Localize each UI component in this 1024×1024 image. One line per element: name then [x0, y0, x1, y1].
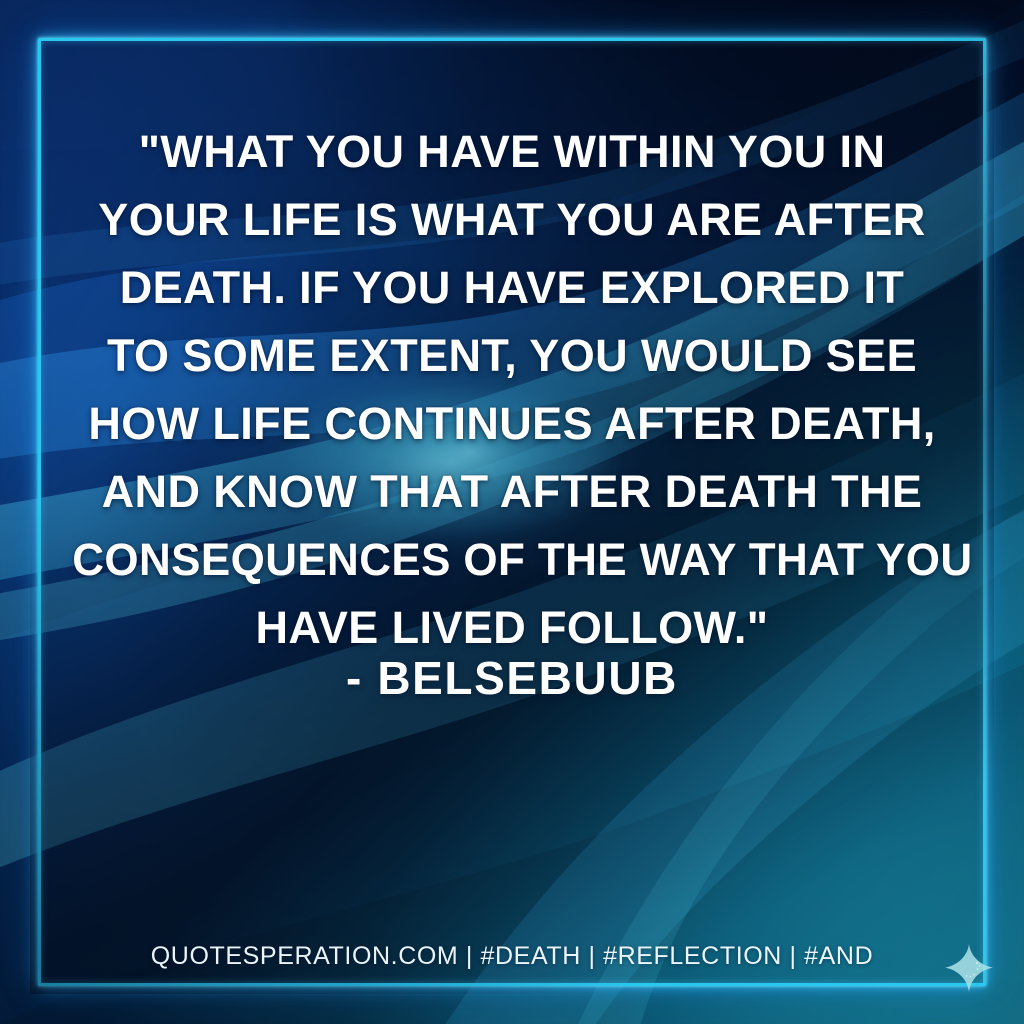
sparkle-star-icon — [944, 943, 994, 993]
quote-line: "WHAT YOU HAVE WITHIN YOU IN — [62, 118, 962, 186]
quote-card: "WHAT YOU HAVE WITHIN YOU IN YOUR LIFE I… — [0, 0, 1024, 1024]
quote-text-block: "WHAT YOU HAVE WITHIN YOU IN YOUR LIFE I… — [62, 118, 962, 662]
quote-line: TO SOME EXTENT, YOU WOULD SEE — [62, 322, 962, 390]
footer-credit-line: QUOTESPERATION.COM | #DEATH | #REFLECTIO… — [0, 942, 1024, 971]
card-content: "WHAT YOU HAVE WITHIN YOU IN YOUR LIFE I… — [0, 0, 1024, 1024]
quote-line: YOUR LIFE IS WHAT YOU ARE AFTER — [62, 186, 962, 254]
quote-line: AND KNOW THAT AFTER DEATH THE — [62, 458, 962, 526]
quote-line: HOW LIFE CONTINUES AFTER DEATH, — [62, 390, 962, 458]
quote-line: CONSEQUENCES OF THE WAY THAT YOU — [72, 526, 951, 594]
quote-attribution: - BELSEBUUB — [346, 648, 678, 708]
quote-line: DEATH. IF YOU HAVE EXPLORED IT — [62, 254, 962, 322]
